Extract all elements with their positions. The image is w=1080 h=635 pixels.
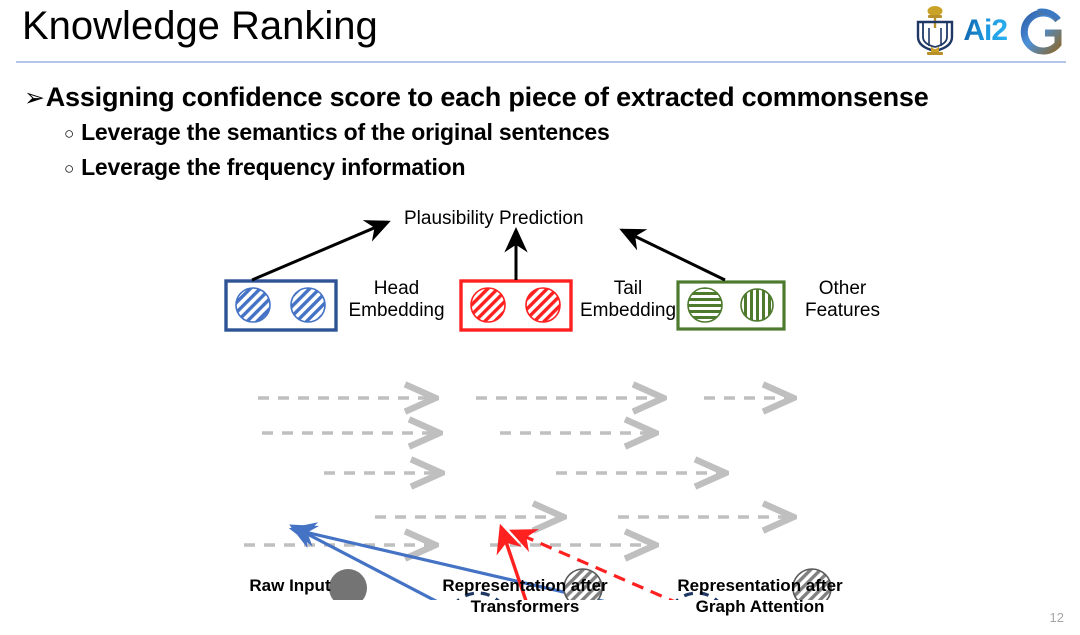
graph-attention-label-line1: Representation after (645, 575, 875, 596)
pipeline-diagram: Plausibility Prediction Head Embedding T… (0, 190, 1080, 600)
ai2-wordmark: Ai2 (963, 16, 1007, 46)
tail-embedding-label-line1: Tail (568, 278, 688, 300)
arrow-head-to-plausibility (252, 222, 388, 280)
bullet-level2-2-text: Leverage the frequency information (81, 154, 465, 180)
header-divider (16, 61, 1066, 63)
tail-embedding-label-line2: Embedding (568, 300, 688, 322)
tail-embedding-label: Tail Embedding (568, 278, 688, 323)
page-number: 12 (1050, 610, 1064, 625)
flow-lines (244, 398, 790, 545)
plausibility-arrows (252, 222, 725, 280)
page-title: Knowledge Ranking (22, 4, 378, 49)
bullet-level1-text: Assigning confidence score to each piece… (46, 82, 929, 112)
ai2-mark-icon (914, 6, 956, 56)
raw-input-label-line1: Raw Input (195, 575, 385, 596)
bullet-level2-1: ○Leverage the semantics of the original … (64, 119, 610, 146)
diagram-canvas (0, 190, 1080, 600)
bullet-level1: ➢Assigning confidence score to each piec… (24, 82, 929, 113)
slide: Knowledge Ranking Ai2 (0, 0, 1080, 635)
bullet-circle-icon: ○ (64, 159, 74, 178)
head-embedding-label: Head Embedding (334, 278, 459, 323)
head-embedding-box-shape (226, 281, 336, 330)
other-features-label: Other Features (780, 278, 905, 323)
arrow-other-to-plausibility (622, 230, 725, 280)
bullet-circle-icon: ○ (64, 124, 74, 143)
other-features-label-line2: Features (780, 300, 905, 322)
tail-embedding-box-shape (461, 281, 571, 330)
head-embedding-label-line1: Head (334, 278, 459, 300)
g-logo-icon (1014, 6, 1066, 56)
head-embedding-label-line2: Embedding (334, 300, 459, 322)
graph-attention-label-line2: Graph Attention (645, 596, 875, 617)
bullet-level2-2: ○Leverage the frequency information (64, 154, 465, 181)
bullet-level2-1-text: Leverage the semantics of the original s… (81, 119, 610, 145)
transformers-label: Representation after Transformers (415, 575, 635, 618)
transformers-label-line1: Representation after (415, 575, 635, 596)
transformers-label-line2: Transformers (415, 596, 635, 617)
other-features-label-line1: Other (780, 278, 905, 300)
other-features-box-shape (678, 282, 784, 329)
plausibility-prediction-label: Plausibility Prediction (404, 208, 584, 230)
logo-group: Ai2 (914, 5, 1066, 57)
bullet-arrow-icon: ➢ (24, 84, 45, 112)
raw-input-label: Raw Input (195, 575, 385, 596)
graph-attention-label: Representation after Graph Attention (645, 575, 875, 618)
